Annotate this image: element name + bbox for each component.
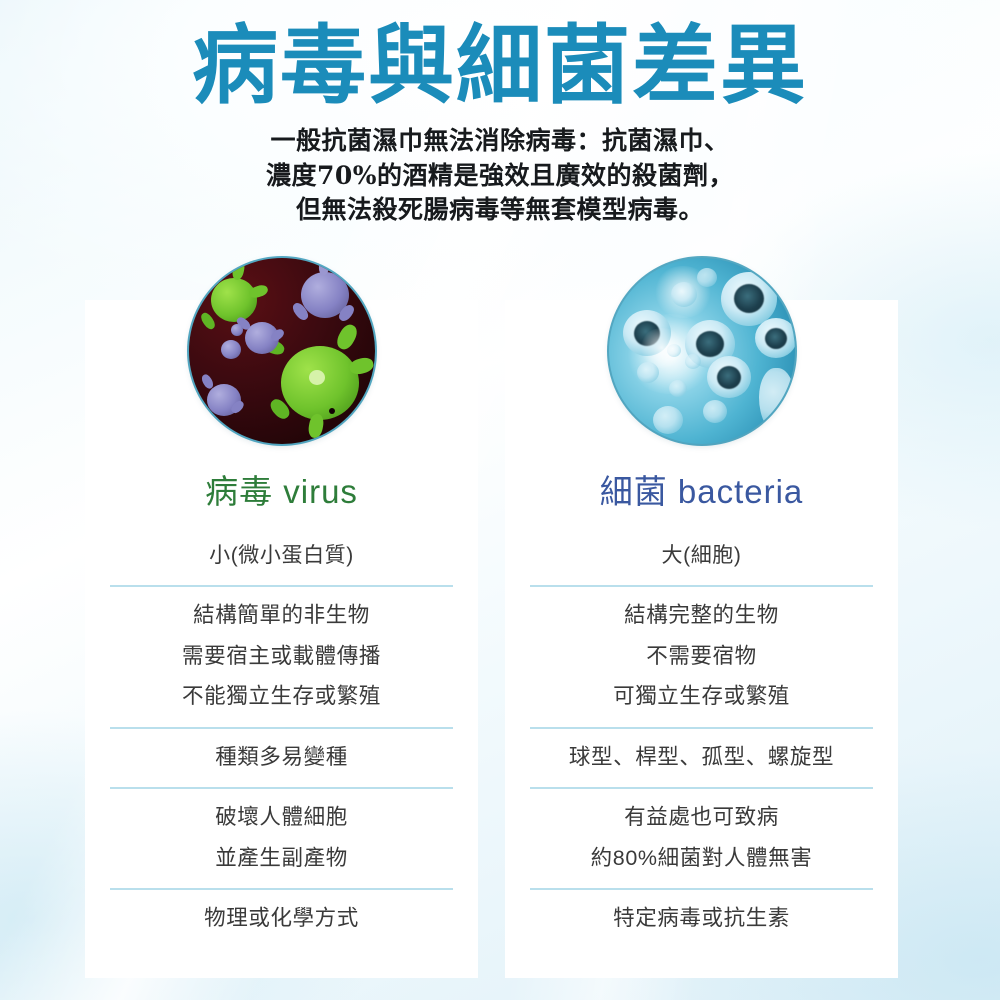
header: 病毒與細菌差異 一般抗菌濕巾無法消除病毒：抗菌濕巾、濃度70%的酒精是強效且廣效… [0,0,1000,258]
fact-item: 結構完整的生物 [530,595,873,635]
fact-group: 結構完整的生物不需要宿物可獨立生存或繁殖 [530,585,873,726]
fact-group: 特定病毒或抗生素 [530,888,873,948]
page-title: 病毒與細菌差異 [0,0,1000,112]
bacteria-figure [505,258,898,488]
virus-figure [85,258,478,488]
fact-item: 可獨立生存或繁殖 [530,676,873,716]
fact-item: 特定病毒或抗生素 [530,898,873,938]
fact-item: 不能獨立生存或繁殖 [110,676,453,716]
fact-group: 球型、桿型、孤型、螺旋型 [530,727,873,787]
fact-group: 物理或化學方式 [110,888,453,948]
fact-item: 有益處也可致病 [530,797,873,837]
fact-group: 破壞人體細胞並產生副產物 [110,787,453,888]
fact-item: 並產生副產物 [110,838,453,878]
fact-item: 種類多易變種 [110,737,453,777]
fact-list-bacteria: 大(細胞)結構完整的生物不需要宿物可獨立生存或繁殖球型、桿型、孤型、螺旋型有益處… [530,528,873,948]
fact-item: 大(細胞) [530,536,873,575]
fact-item: 物理或化學方式 [110,898,453,938]
fact-item: 約80%細菌對人體無害 [530,838,873,878]
fact-group: 大(細胞) [530,528,873,585]
page-subtitle: 一般抗菌濕巾無法消除病毒：抗菌濕巾、濃度70%的酒精是強效且廣效的殺菌劑，但無法… [0,124,1000,228]
fact-item: 不需要宿物 [530,636,873,676]
bacteria-circle-icon [609,258,795,444]
comparison-card-virus: 病毒 virus 小(微小蛋白質)結構簡單的非生物需要宿主或載體傳播不能獨立生存… [85,300,478,978]
virus-circle-icon [189,258,375,444]
fact-item: 小(微小蛋白質) [110,536,453,575]
fact-item: 破壞人體細胞 [110,797,453,837]
fact-group: 有益處也可致病約80%細菌對人體無害 [530,787,873,888]
fact-list-virus: 小(微小蛋白質)結構簡單的非生物需要宿主或載體傳播不能獨立生存或繁殖種類多易變種… [110,528,453,948]
subtitle-line: 但無法殺死腸病毒等無套模型病毒。 [0,193,1000,228]
comparison-card-bacteria: 細菌 bacteria 大(細胞)結構完整的生物不需要宿物可獨立生存或繁殖球型、… [505,300,898,978]
fact-group: 種類多易變種 [110,727,453,787]
fact-item: 需要宿主或載體傳播 [110,636,453,676]
subtitle-line: 濃度70%的酒精是強效且廣效的殺菌劑， [0,159,1000,194]
fact-item: 球型、桿型、孤型、螺旋型 [530,737,873,777]
fact-group: 小(微小蛋白質) [110,528,453,585]
fact-item: 結構簡單的非生物 [110,595,453,635]
subtitle-line: 一般抗菌濕巾無法消除病毒：抗菌濕巾、 [0,124,1000,159]
fact-group: 結構簡單的非生物需要宿主或載體傳播不能獨立生存或繁殖 [110,585,453,726]
